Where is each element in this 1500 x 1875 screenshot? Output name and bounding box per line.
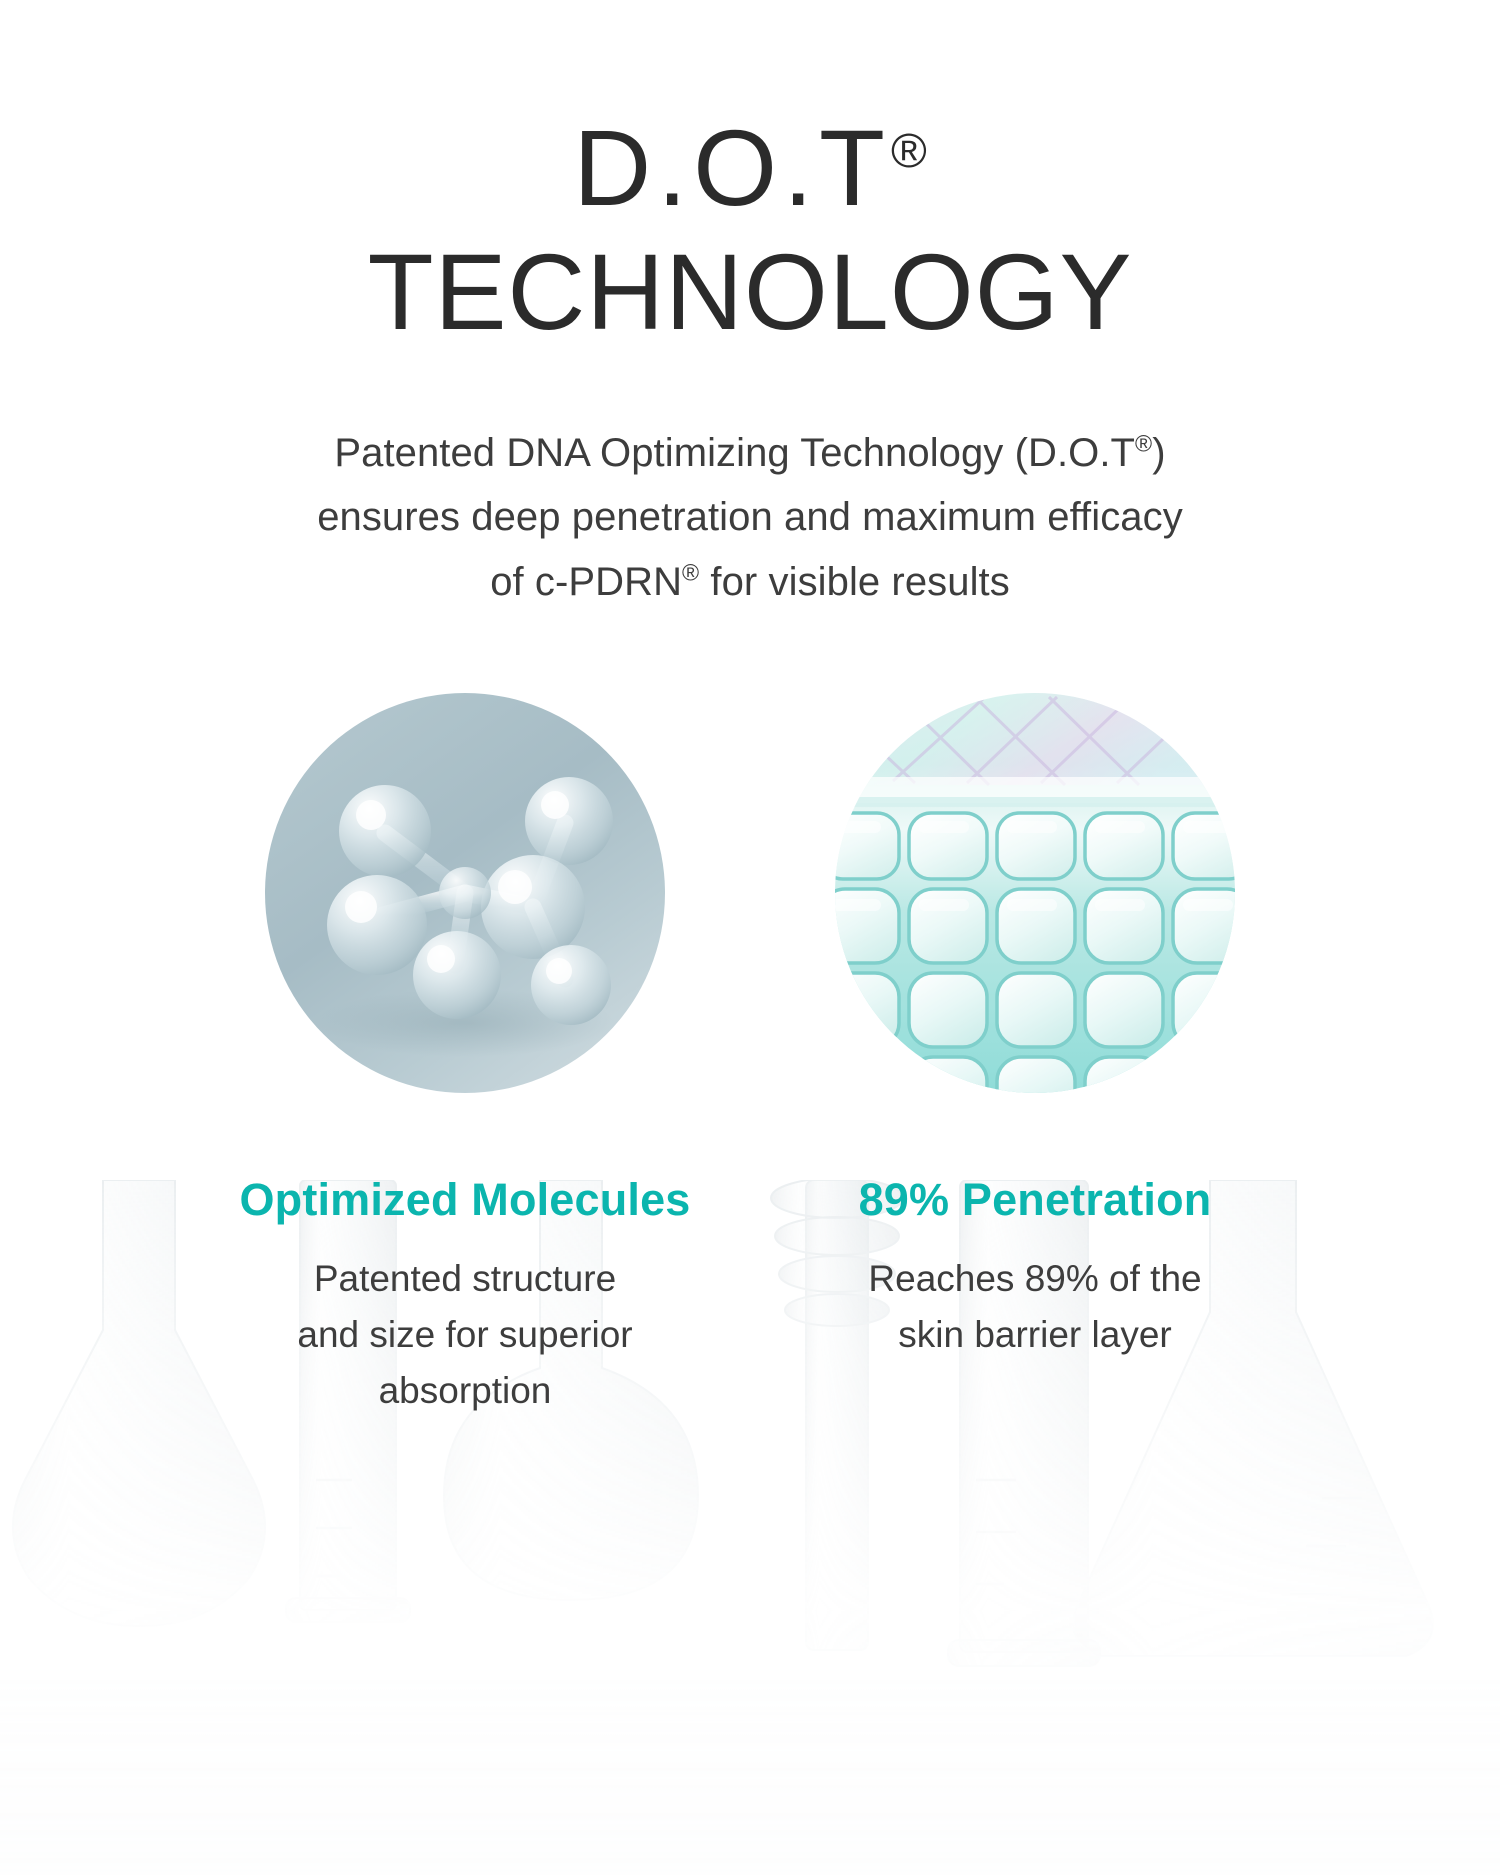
- headline-line-1: D.O.T®: [0, 112, 1500, 224]
- feature-89-percent-penetration: 89% Penetration Reaches 89% of the skin …: [775, 693, 1295, 1363]
- registered-mark-icon: ®: [891, 124, 927, 178]
- subtitle-line-1-text-b: ): [1152, 431, 1165, 475]
- headline-line-2: TECHNOLOGY: [0, 236, 1500, 348]
- feature-optimized-molecules: Optimized Molecules Patented structure a…: [205, 693, 725, 1419]
- molecule-illustration: [265, 693, 665, 1093]
- subtitle-line-3: of c-PDRN® for visible results: [190, 550, 1310, 615]
- subtitle-line-2: ensures deep penetration and maximum eff…: [190, 485, 1310, 550]
- feature-description-line: skin barrier layer: [868, 1307, 1201, 1363]
- subtitle-paragraph: Patented DNA Optimizing Technology (D.O.…: [190, 421, 1310, 615]
- subtitle-line-1: Patented DNA Optimizing Technology (D.O.…: [190, 421, 1310, 486]
- feature-title: Optimized Molecules: [239, 1175, 690, 1225]
- feature-description-line: and size for superior: [297, 1307, 632, 1363]
- headline-dot-text: D.O.T: [573, 107, 891, 228]
- feature-description-line: Reaches 89% of the: [868, 1251, 1201, 1307]
- skin-barrier-illustration-circle: [835, 693, 1235, 1093]
- skin-barrier-cells-illustration: [835, 693, 1235, 1093]
- subtitle-line-1-text-a: Patented DNA Optimizing Technology (D.O.…: [334, 431, 1135, 475]
- feature-description: Patented structure and size for superior…: [297, 1251, 632, 1420]
- subtitle-line-3-text-a: of c-PDRN: [490, 560, 682, 604]
- feature-description: Reaches 89% of the skin barrier layer: [868, 1251, 1201, 1363]
- page-title: D.O.T® TECHNOLOGY: [0, 112, 1500, 349]
- feature-title: 89% Penetration: [859, 1175, 1212, 1225]
- registered-mark-icon: ®: [1135, 430, 1152, 456]
- feature-description-line: Patented structure: [297, 1251, 632, 1307]
- registered-mark-icon: ®: [682, 560, 699, 586]
- infographic-page: D.O.T® TECHNOLOGY Patented DNA Optimizin…: [0, 0, 1500, 1875]
- molecule-illustration-circle: [265, 693, 665, 1093]
- subtitle-line-3-text-b: for visible results: [699, 560, 1010, 604]
- feature-columns: Optimized Molecules Patented structure a…: [0, 693, 1500, 1419]
- feature-description-line: absorption: [297, 1363, 632, 1419]
